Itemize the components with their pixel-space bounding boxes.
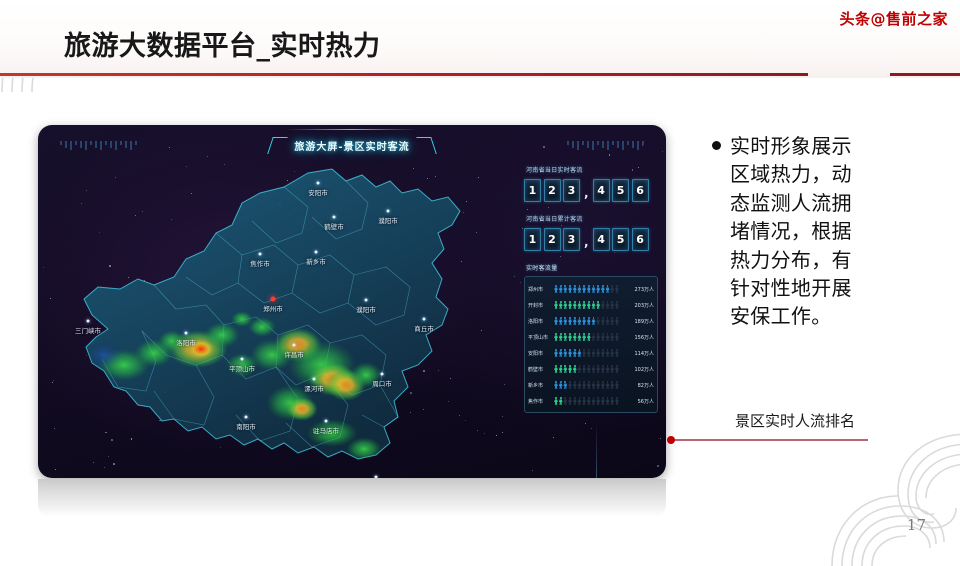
person-icon (577, 317, 581, 325)
person-icon (592, 365, 596, 373)
rank-pin-bar (554, 381, 630, 389)
title-underline-left (0, 73, 808, 76)
person-icon (559, 317, 563, 325)
person-icon (582, 285, 586, 293)
person-icon (559, 397, 563, 405)
person-icon (577, 333, 581, 341)
person-icon (596, 349, 600, 357)
bullet-text: 实时形象展示区域热力，动态监测人流拥堵情况，根据热力分布，有针对性地开展安保工作… (730, 132, 862, 331)
map-city-marker[interactable] (365, 299, 368, 302)
person-icon (554, 381, 558, 389)
person-icon (563, 285, 567, 293)
person-icon (606, 333, 610, 341)
digit-box: 4 (593, 228, 610, 251)
person-icon (601, 365, 605, 373)
digit-box: 3 (563, 179, 580, 202)
ranking-title: 实时客流量 (526, 263, 658, 272)
stat-block-cumulative: 河南省当日累计客流 123,456 (524, 214, 658, 251)
person-icon (601, 333, 605, 341)
person-icon (559, 333, 563, 341)
person-icon (596, 333, 600, 341)
table-row[interactable]: 郑州市273万人 (528, 281, 654, 297)
person-icon (610, 301, 614, 309)
rank-city-name: 鹤壁市 (528, 366, 554, 373)
person-icon (601, 349, 605, 357)
rank-value: 189万人 (630, 318, 654, 325)
rank-value: 273万人 (630, 286, 654, 293)
person-icon (563, 301, 567, 309)
map-city-marker[interactable] (333, 216, 336, 219)
map-city-marker[interactable] (387, 210, 390, 213)
bullet-dot-icon (712, 141, 721, 150)
page-number: 17 (907, 516, 926, 534)
person-icon (568, 381, 572, 389)
person-icon (601, 317, 605, 325)
person-icon (573, 301, 577, 309)
person-icon (587, 317, 591, 325)
map-city-label: 商丘市 (414, 323, 434, 333)
rank-city-name: 洛阳市 (528, 318, 554, 325)
person-icon (610, 349, 614, 357)
person-icon (610, 333, 614, 341)
map-city-label: 漯河市 (304, 383, 324, 393)
digit-box: 1 (524, 228, 541, 251)
person-icon (606, 349, 610, 357)
person-icon (615, 349, 619, 357)
stat-label-realtime: 河南省当日实时客流 (526, 165, 658, 174)
person-icon (559, 285, 563, 293)
map-city-marker[interactable] (375, 476, 378, 479)
map-city-marker[interactable] (259, 253, 262, 256)
person-icon (615, 317, 619, 325)
digit-box: 2 (544, 228, 561, 251)
person-icon (568, 285, 572, 293)
callout-leader-line (672, 439, 868, 441)
person-icon (596, 381, 600, 389)
rank-pin-bar (554, 317, 630, 325)
decorative-spiral-bottom-right (820, 426, 960, 566)
page-title: 旅游大数据平台_实时热力 (64, 24, 381, 63)
rank-value: 102万人 (630, 366, 654, 373)
ranking-divider (596, 421, 597, 478)
person-icon (577, 381, 581, 389)
table-row[interactable]: 开封市203万人 (528, 297, 654, 313)
map-city-label: 鹤壁市 (324, 221, 344, 231)
person-icon (573, 349, 577, 357)
person-icon (559, 349, 563, 357)
person-icon (601, 301, 605, 309)
rank-city-name: 郑州市 (528, 286, 554, 293)
person-icon (563, 317, 567, 325)
person-icon (587, 349, 591, 357)
rank-city-name: 安阳市 (528, 350, 554, 357)
person-icon (615, 333, 619, 341)
table-row[interactable]: 鹤壁市102万人 (528, 361, 654, 377)
map-city-marker[interactable] (317, 182, 320, 185)
person-icon (610, 397, 614, 405)
person-icon (582, 381, 586, 389)
digit-box: 6 (632, 179, 649, 202)
stat-label-cumulative: 河南省当日累计客流 (526, 214, 658, 223)
table-row[interactable]: 新乡市82万人 (528, 377, 654, 393)
person-icon (568, 333, 572, 341)
ranking-list[interactable]: 郑州市273万人开封市203万人洛阳市189万人平顶山市156万人安阳市114万… (524, 276, 658, 413)
table-row[interactable]: 安阳市114万人 (528, 345, 654, 361)
person-icon (577, 365, 581, 373)
person-icon (573, 397, 577, 405)
person-icon (563, 365, 567, 373)
digit-box: 3 (563, 228, 580, 251)
rank-pin-bar (554, 349, 630, 357)
map-city-label: 许昌市 (284, 349, 304, 359)
rank-value: 56万人 (630, 398, 654, 405)
person-icon (596, 317, 600, 325)
person-icon (606, 397, 610, 405)
person-icon (596, 285, 600, 293)
person-icon (615, 285, 619, 293)
person-icon (592, 301, 596, 309)
person-icon (554, 285, 558, 293)
table-row[interactable]: 平顶山市156万人 (528, 329, 654, 345)
digit-box: 2 (544, 179, 561, 202)
person-icon (554, 397, 558, 405)
person-icon (573, 285, 577, 293)
rank-value: 114万人 (630, 350, 654, 357)
rank-city-name: 平顶山市 (528, 334, 554, 341)
person-icon (554, 333, 558, 341)
map-city-marker[interactable] (241, 358, 244, 361)
rank-city-name: 焦作市 (528, 398, 554, 405)
person-icon (596, 365, 600, 373)
person-icon (592, 397, 596, 405)
digit-separator: , (583, 235, 591, 251)
map-city-label: 洛阳市 (176, 337, 196, 347)
person-icon (577, 285, 581, 293)
dashboard-panel: 旅游大屏-景区实时客流 (38, 125, 666, 478)
person-icon (554, 349, 558, 357)
person-icon (596, 397, 600, 405)
person-icon (563, 333, 567, 341)
map-city-marker[interactable] (87, 320, 90, 323)
person-icon (563, 381, 567, 389)
dashboard-header: 旅游大屏-景区实时客流 (38, 133, 666, 157)
map-city-label: 郑州市 (263, 303, 283, 313)
person-icon (615, 301, 619, 309)
map-city-marker[interactable] (185, 332, 188, 335)
person-icon (592, 333, 596, 341)
map-city-marker[interactable] (423, 318, 426, 321)
map-city-label: 南阳市 (236, 421, 256, 431)
map-city-marker[interactable] (315, 251, 318, 254)
rank-value: 156万人 (630, 334, 654, 341)
person-icon (587, 365, 591, 373)
person-icon (573, 365, 577, 373)
title-underline-right (890, 73, 960, 76)
table-row[interactable]: 洛阳市189万人 (528, 313, 654, 329)
digit-box: 6 (632, 228, 649, 251)
person-icon (582, 301, 586, 309)
digit-box: 4 (593, 179, 610, 202)
digit-box: 1 (524, 179, 541, 202)
dashboard-title-frame: 旅游大屏-景区实时客流 (268, 136, 435, 155)
map-city-marker[interactable] (325, 420, 328, 423)
table-row[interactable]: 焦作市56万人 (528, 393, 654, 409)
person-icon (559, 301, 563, 309)
person-icon (559, 381, 563, 389)
person-icon (592, 317, 596, 325)
person-icon (577, 349, 581, 357)
dashboard-title-rule (286, 129, 418, 130)
rank-pin-bar (554, 333, 630, 341)
rank-pin-bar (554, 285, 630, 293)
person-icon (606, 285, 610, 293)
person-icon (596, 301, 600, 309)
person-icon (568, 301, 572, 309)
person-icon (610, 285, 614, 293)
person-icon (568, 397, 572, 405)
person-icon (601, 397, 605, 405)
person-icon (568, 365, 572, 373)
map-city-label: 濮阳市 (356, 304, 376, 314)
person-icon (573, 333, 577, 341)
map-city-marker[interactable] (271, 297, 276, 302)
digit-box: 5 (612, 228, 629, 251)
digit-separator: , (583, 186, 591, 202)
digit-display-realtime: 123,456 (524, 179, 658, 202)
rank-pin-bar (554, 301, 630, 309)
rank-city-name: 新乡市 (528, 382, 554, 389)
person-icon (592, 349, 596, 357)
map-city-label: 安阳市 (308, 187, 328, 197)
person-icon (559, 365, 563, 373)
digit-display-cumulative: 123,456 (524, 228, 658, 251)
map-city-label: 周口市 (372, 378, 392, 388)
map-city-label: 驻马店市 (313, 425, 339, 435)
person-icon (577, 397, 581, 405)
person-icon (554, 317, 558, 325)
person-icon (554, 301, 558, 309)
callout-anchor-dot (667, 436, 675, 444)
stat-block-realtime: 河南省当日实时客流 123,456 (524, 165, 658, 202)
person-icon (615, 397, 619, 405)
person-icon (563, 349, 567, 357)
person-icon (610, 365, 614, 373)
person-icon (582, 317, 586, 325)
person-icon (587, 397, 591, 405)
person-icon (554, 365, 558, 373)
rank-city-name: 开封市 (528, 302, 554, 309)
person-icon (582, 397, 586, 405)
rank-pin-bar (554, 365, 630, 373)
person-icon (587, 285, 591, 293)
person-icon (587, 301, 591, 309)
person-icon (610, 381, 614, 389)
person-icon (592, 381, 596, 389)
map-city-label: 濮阳市 (378, 215, 398, 225)
person-icon (582, 365, 586, 373)
person-icon (601, 285, 605, 293)
brand-watermark: 头条@售前之家 (839, 8, 948, 29)
map-city-marker[interactable] (313, 378, 316, 381)
person-icon (582, 349, 586, 357)
map-city-label: 平顶山市 (229, 363, 255, 373)
map-city-label: 焦作市 (250, 258, 270, 268)
bullet-block: 实时形象展示区域热力，动态监测人流拥堵情况，根据热力分布，有针对性地开展安保工作… (712, 132, 862, 331)
person-icon (601, 381, 605, 389)
map-city-marker[interactable] (381, 373, 384, 376)
person-icon (615, 365, 619, 373)
panel-reflection (38, 479, 666, 517)
person-icon (610, 317, 614, 325)
callout-label: 景区实时人流排名 (735, 410, 855, 431)
person-icon (606, 381, 610, 389)
person-icon (587, 381, 591, 389)
person-icon (568, 349, 572, 357)
stats-column: 河南省当日实时客流 123,456 河南省当日累计客流 123,456 实时客流… (524, 165, 658, 413)
person-icon (568, 317, 572, 325)
rank-pin-bar (554, 397, 630, 405)
person-icon (573, 381, 577, 389)
person-icon (582, 333, 586, 341)
map-city-label: 新乡市 (306, 256, 326, 266)
rank-value: 82万人 (630, 382, 654, 389)
map-city-label: 三门峡市 (75, 325, 101, 335)
person-icon (592, 285, 596, 293)
person-icon (577, 301, 581, 309)
map-city-marker[interactable] (293, 344, 296, 347)
map-city-marker[interactable] (245, 416, 248, 419)
person-icon (573, 317, 577, 325)
person-icon (587, 333, 591, 341)
digit-box: 5 (612, 179, 629, 202)
dashboard-title: 旅游大屏-景区实时客流 (294, 138, 409, 153)
person-icon (606, 317, 610, 325)
heatmap-map[interactable]: 安阳市鹤壁市濮阳市焦作市新乡市郑州市濮阳市三门峡市商丘市洛阳市许昌市平顶山市漯河… (46, 159, 512, 471)
rank-value: 203万人 (630, 302, 654, 309)
person-icon (606, 301, 610, 309)
person-icon (606, 365, 610, 373)
person-icon (563, 397, 567, 405)
person-icon (615, 381, 619, 389)
